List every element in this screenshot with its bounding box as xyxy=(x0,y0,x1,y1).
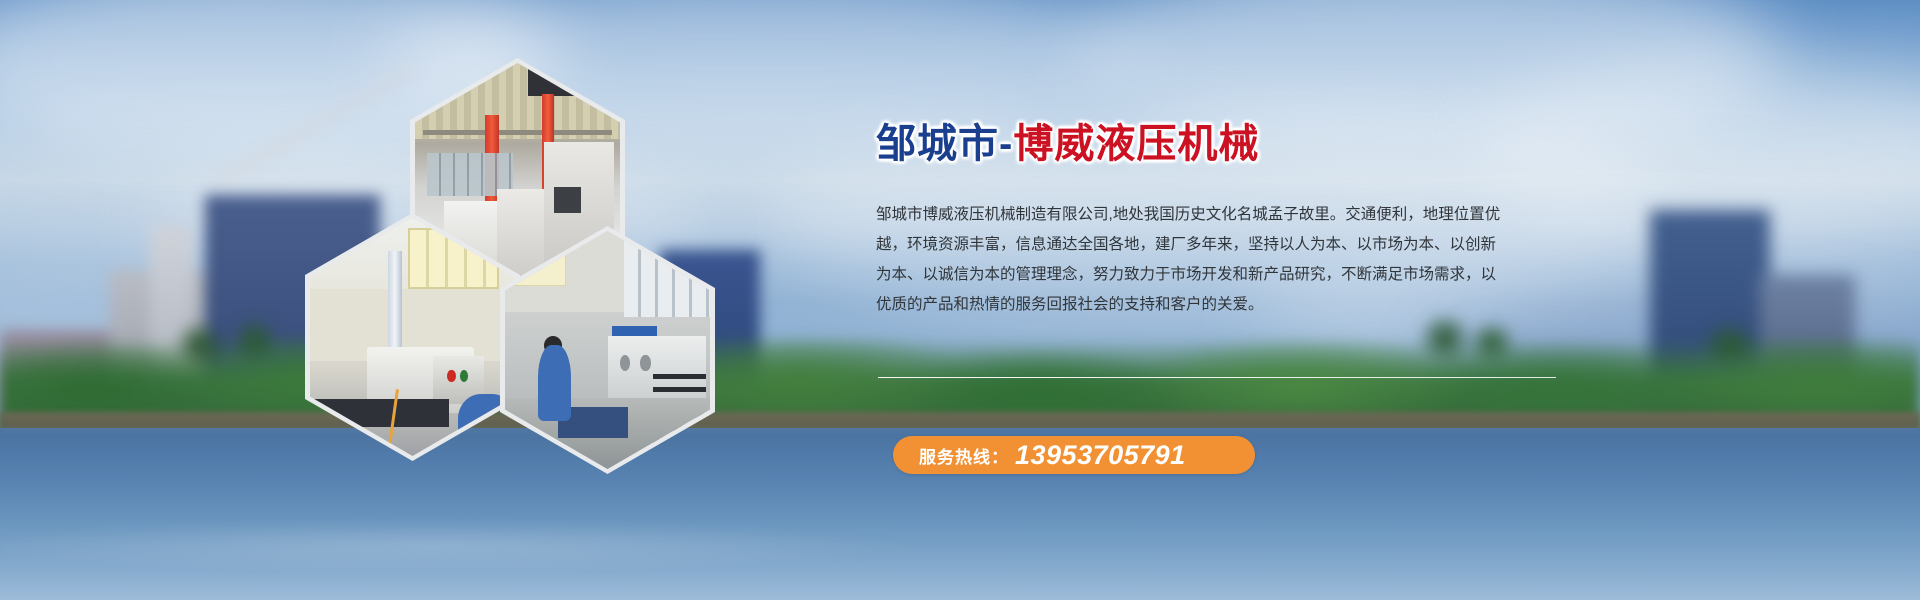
hotline-button[interactable]: 服务热线： 13953705791 xyxy=(893,436,1255,474)
company-title-prefix: 邹城市- xyxy=(876,122,1013,166)
company-description: 邹城市博威液压机械制造有限公司,地处我国历史文化名城孟子故里。交通便利，地理位置… xyxy=(876,200,1576,320)
lab-button-red xyxy=(447,370,455,382)
factory-roof xyxy=(415,63,620,139)
test-bench-dial xyxy=(640,355,650,372)
hotline-label: 服务热线： xyxy=(919,443,1009,468)
factory-control-panel xyxy=(554,187,581,213)
hexagon-photo-cluster xyxy=(305,58,705,443)
testing-worker xyxy=(538,345,571,421)
testing-window xyxy=(624,236,710,317)
lab-desk xyxy=(310,399,449,428)
description-line: 为本、以诚信为本的管理理念，努力致力于市场开发和新产品研究，不断满足市场需求，以 xyxy=(876,260,1576,290)
description-line: 越，环境资源丰富，信息通达全国各地，建厂多年来，坚持以人为本、以市场为本、以创新 xyxy=(876,230,1576,260)
hotline-number: 13953705791 xyxy=(1015,442,1186,469)
lab-button-green xyxy=(460,370,468,382)
company-title-brand: 博威液压机械 xyxy=(1013,122,1259,166)
section-divider xyxy=(878,377,1556,378)
company-hero-banner: 邹城市-博威液压机械 邹城市博威液压机械制造有限公司,地处我国历史文化名城孟子故… xyxy=(0,0,1920,600)
factory-ceiling-unit xyxy=(528,68,581,97)
banner-text-content: 邹城市-博威液压机械 邹城市博威液压机械制造有限公司,地处我国历史文化名城孟子故… xyxy=(876,120,1636,320)
measuring-column xyxy=(388,251,402,356)
description-line: 优质的产品和热情的服务回报社会的支持和客户的关爱。 xyxy=(876,290,1576,320)
description-line: 邹城市博威液压机械制造有限公司,地处我国历史文化名城孟子故里。交通便利，地理位置… xyxy=(876,200,1576,230)
factory-beam xyxy=(423,130,612,135)
company-title: 邹城市-博威液压机械 xyxy=(876,120,1636,168)
